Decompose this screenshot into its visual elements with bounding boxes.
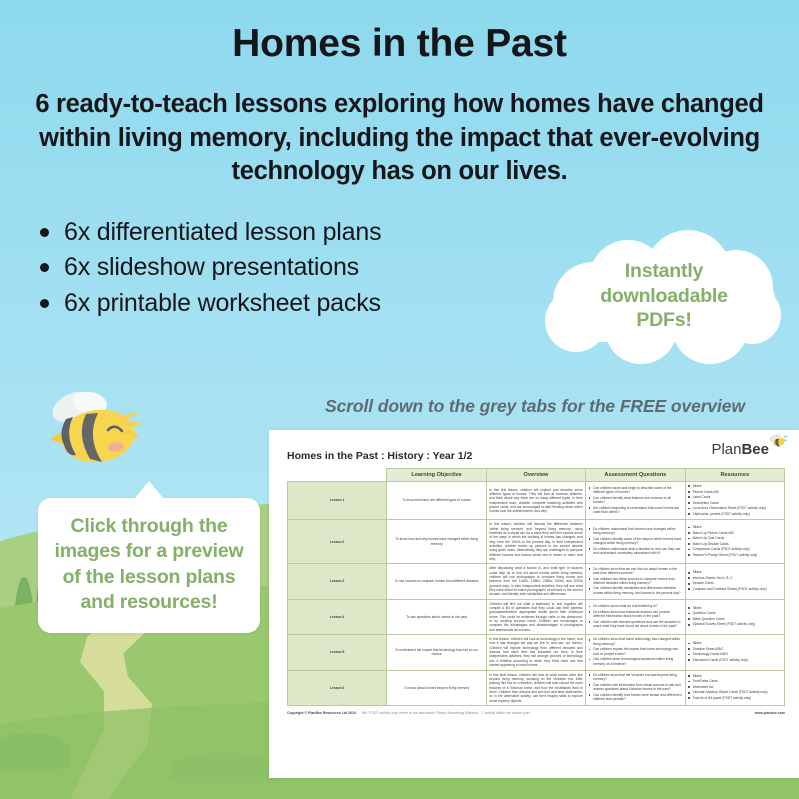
resource-item: Technology Cards A/B/C [688,652,781,656]
feature-list: 6x differentiated lesson plans 6x slides… [34,215,514,322]
resource-item: Comparison Cards (FSDT activity only) [688,547,781,551]
table-row: Lesson 2To know how and why homes have c… [288,520,785,564]
lesson-resources: SlidesTimeline Sheet A/B/CTechnology Car… [685,635,784,670]
document-title: Homes in the Past : History : Year 1/2 [287,441,472,462]
resource-item: Match Up Decade Cards [688,542,781,546]
resource-item: Decade Cards [688,581,781,585]
lesson-assessment: Do children know that we can find out ab… [586,564,685,599]
table-row: Lesson 6To know about homes beyond livin… [288,670,785,705]
cloud-line-2: downloadable [600,284,728,309]
lesson-assessment: Do children know that home technology ha… [586,635,685,670]
resource-item: Slides [688,484,781,488]
th-number [288,469,387,482]
resource-item: Slides [688,525,781,529]
lesson-number: Lesson 2 [288,520,387,564]
th-assessment-questions: Assessment Questions [586,469,685,482]
assessment-item: Do children know what an oral testimony … [589,604,682,608]
assessment-item: Do children know that home technology ha… [589,637,682,646]
assessment-item: Do children know how historical sources … [589,610,682,619]
table-header-row: Learning Objective Overview Assessment Q… [288,469,785,482]
resource-item: Slides [688,641,781,645]
resource-item: Picture Cards A/B [688,490,781,494]
document-header: Homes in the Past : History : Year 1/2 P… [287,441,785,462]
speech-bubble: Click through the images for a preview o… [38,498,260,633]
assessment-item: Are children beginning to understand tha… [589,506,682,515]
lesson-overview: In this first lesson, children will expl… [486,482,585,520]
assessment-item: Can children explain the impact that hom… [589,647,682,656]
page-subtitle: 6 ready-to-teach lessons exploring how h… [0,66,799,189]
lesson-assessment: Do children know that the Victorian era … [586,670,685,705]
logo-bee-icon [767,434,787,448]
th-learning-objective: Learning Objective [387,469,486,482]
footer-copyright: Copyright © PlanBee Resources Ltd 2024 [287,711,356,715]
lesson-number: Lesson 6 [288,670,387,705]
lesson-plan-table: Learning Objective Overview Assessment Q… [287,468,785,706]
cloud-badge-text: Instantly downloadable PDFs! [545,228,783,364]
table-body: Lesson 1To know that there are different… [288,482,785,706]
bee-mascot-icon [28,383,156,483]
resource-item: Slides [688,674,781,678]
resource-item: Label Cards [688,495,781,499]
assessment-item: Can children name and begin to describe … [589,486,682,495]
resource-item: Compare and Contrast Sheets (FSDT activi… [688,587,781,591]
lesson-number: Lesson 1 [288,482,387,520]
footer-note: NB: 'FSDT activity only' refers to the a… [362,711,749,715]
resource-item: Blank Question Cards [688,617,781,621]
assessment-item: Can children order technological advance… [589,657,682,666]
resource-item: Local Area Observation Sheet (FSDT activ… [688,506,781,510]
assessment-item: Can children identify some of the ways i… [589,537,682,546]
lesson-resources: SlidesTrue/False CardsWorksheet 6AVictor… [685,670,784,705]
assessment-item: Can children ask relevant questions and … [589,620,682,629]
lesson-resources: SlidesPicture Cards A/BLabel CardsDescri… [685,482,784,520]
cloud-line-1: Instantly [625,259,703,284]
resource-item: Timeline Sheet A/B/C [688,647,781,651]
lesson-overview: Children will find out what a testimony … [486,599,585,634]
lesson-objective: To know about homes beyond living memory [387,670,486,705]
resource-item: Clipboards, pencils (FSDT activity only) [688,512,781,516]
assessment-item: Do children understand what a timeline i… [589,547,682,556]
scroll-caption: Scroll down to the grey tabs for the FRE… [285,396,785,417]
assessment-item: Can children identify how homes were sim… [589,693,682,702]
list-item: 6x slideshow presentations [34,250,514,286]
resource-item: Discussion Cards (FSDT activity only) [688,658,781,662]
table-row: Lesson 1To know that there are different… [288,482,785,520]
assessment-item: Can children identify similarities and d… [589,586,682,595]
bush-2 [170,753,280,783]
th-resources: Resources [685,469,784,482]
assessment-item: Do children know that the Victorian era … [589,673,682,682]
logo-text-plain: Plan [711,441,741,458]
lesson-objective: To ask questions about homes in the past [387,599,486,634]
list-item: 6x printable worksheet packs [34,286,514,322]
table-row: Lesson 5To understand the impact that te… [288,635,785,670]
lesson-objective: To know how and why homes have changed w… [387,520,486,564]
lesson-objective: To use sources to compare homes from dif… [387,564,486,599]
bush-1 [0,733,70,769]
resource-item: Slides [688,606,781,610]
document-footer: Copyright © PlanBee Resources Ltd 2024 N… [287,711,785,715]
resource-item: Post-its or A3 paper (FSDT activity only… [688,696,781,700]
resource-item: Teacher's Prompt Sheet (FSDT activity on… [688,553,781,557]
resource-item: Question Cards [688,611,781,615]
lesson-resources: SlidesMatch Up Picture Cards A/BMatch Up… [685,520,784,564]
list-item: 6x differentiated lesson plans [34,215,514,251]
assessment-item: Do children know that we can find out ab… [589,567,682,576]
resource-item: Description Cards [688,501,781,505]
page-title: Homes in the Past [0,0,799,66]
lesson-assessment: Do children know what an oral testimony … [586,599,685,634]
resource-item: Victorian Mystery Object Cards (FSDT act… [688,690,781,694]
lesson-resources: SlidesInteriors Sheets Set A, B, CDecade… [685,564,784,599]
resource-item: Worksheet 6A [688,685,781,689]
planbee-logo: PlanBee [711,441,785,458]
table-row: Lesson 3To use sources to compare homes … [288,564,785,599]
cloud-badge: Instantly downloadable PDFs! [545,228,783,364]
lesson-resources: SlidesQuestion CardsBlank Question Cards… [685,599,784,634]
lesson-number: Lesson 3 [288,564,387,599]
lesson-overview: In this final lesson, children will look… [486,670,585,705]
lesson-objective: To know that there are different types o… [387,482,486,520]
resource-item: Optional Survey Sheet (FSDT activity onl… [688,622,781,626]
document-preview[interactable]: Homes in the Past : History : Year 1/2 P… [269,430,799,778]
lesson-objective: To understand the impact that technology… [387,635,486,670]
lesson-assessment: Can children name and begin to describe … [586,482,685,520]
lesson-number: Lesson 5 [288,635,387,670]
resource-item: Interiors Sheets Set A, B, C [688,576,781,580]
lesson-overview: After discussing what a source is, and w… [486,564,585,599]
resource-item: Match Up Picture Cards A/B [688,531,781,535]
resource-item: Slides [688,570,781,574]
th-overview: Overview [486,469,585,482]
assessment-item: Can children use these sources to compar… [589,577,682,586]
lesson-assessment: Do children understand that homes have c… [586,520,685,564]
cloud-line-3: PDFs! [636,308,691,333]
assessment-item: Can children identify what features are … [589,496,682,505]
speech-bubble-text: Click through the images for a preview o… [48,514,250,615]
table-row: Lesson 4To ask questions about homes in … [288,599,785,634]
assessment-item: Do children understand that homes have c… [589,527,682,536]
resource-item: Match Up Clue Cards [688,536,781,540]
logo-text-bold: Bee [741,441,769,458]
lesson-overview: In this lesson, children will discuss th… [486,520,585,564]
assessment-item: Can children use information from visual… [589,683,682,692]
footer-website: www.planbee.com [755,711,785,715]
lesson-number: Lesson 4 [288,599,387,634]
lesson-overview: In this lesson, children will look at te… [486,635,585,670]
resource-item: True/False Cards [688,679,781,683]
